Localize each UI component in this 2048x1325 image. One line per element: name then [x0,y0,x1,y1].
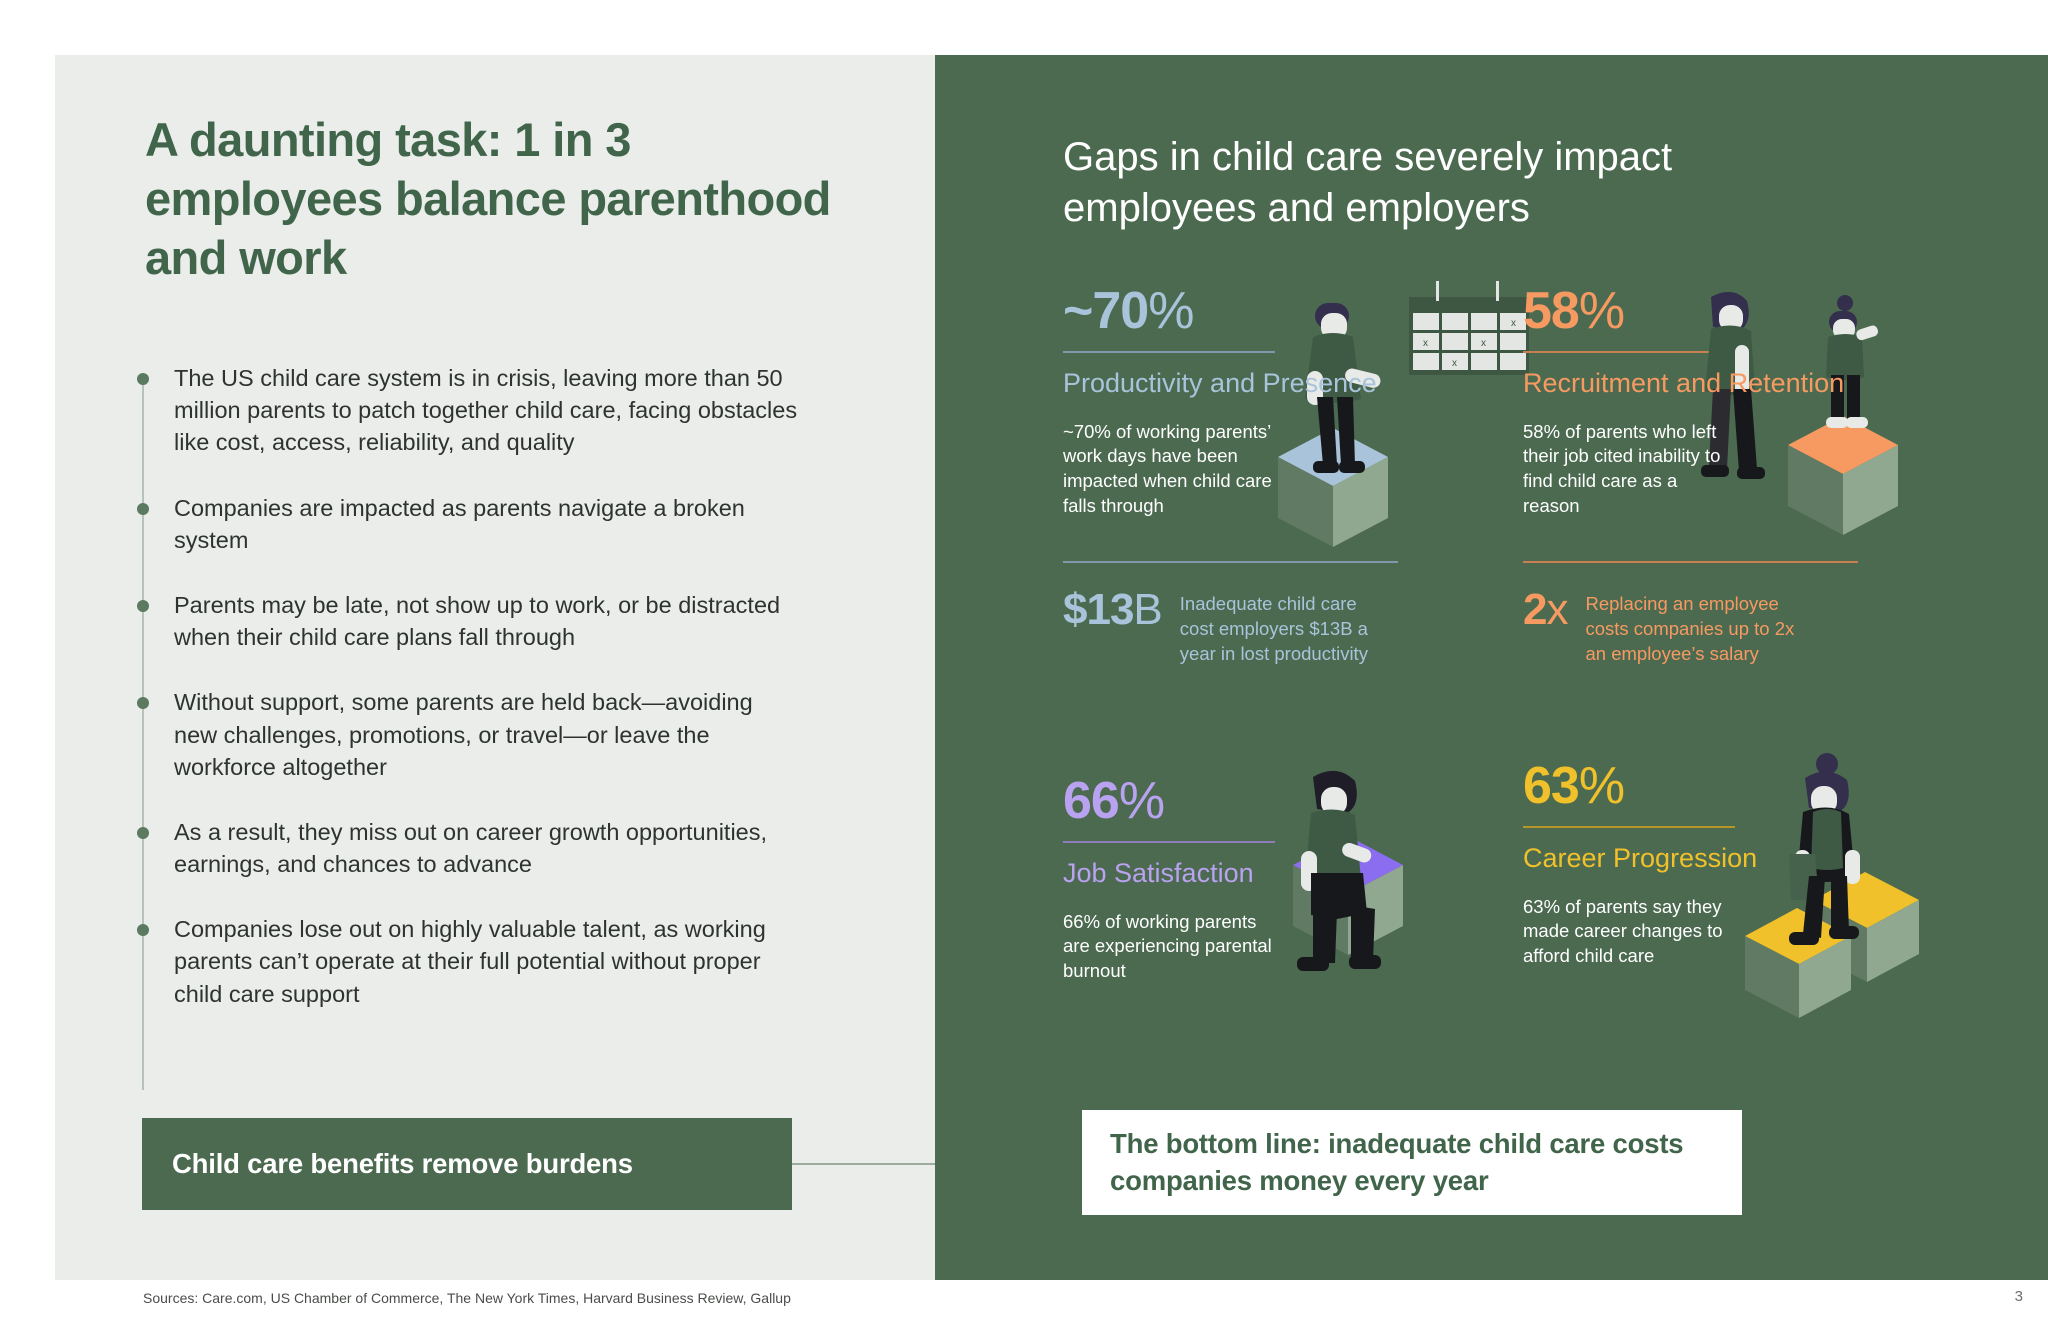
bottom-line-text: The bottom line: inadequate child care c… [1110,1126,1742,1199]
list-item-text: Companies are impacted as parents naviga… [174,492,802,556]
stat-value: ~70% [1063,285,1533,337]
stat-label: Productivity and Presence [1063,366,1533,400]
sources-note: Sources: Care.com, US Chamber of Commerc… [143,1290,791,1306]
list-item-text: The US child care system is in crisis, l… [174,362,802,459]
bullet-dot-icon [137,697,149,709]
stat-value: 66% [1063,775,1533,827]
stat-label: Career Progression [1523,841,1993,875]
bottom-line-banner: The bottom line: inadequate child care c… [1082,1110,1742,1215]
list-item: Companies are impacted as parents naviga… [142,492,802,556]
page-number: 3 [2015,1288,2023,1305]
list-item-text: As a result, they miss out on career gro… [174,816,802,880]
stat-value: 63% [1523,760,1993,812]
slide-root: A daunting task: 1 in 3 employees balanc… [0,0,2048,1325]
list-item: Companies lose out on highly valuable ta… [142,913,802,1010]
stat-card-career-progression: 63% Career Progression 63% of parents sa… [1523,760,1993,969]
bullet-dot-icon [137,373,149,385]
list-item: As a result, they miss out on career gro… [142,816,802,880]
stat-card-job-satisfaction: 66% Job Satisfaction 66% of working pare… [1063,775,1533,984]
stat-description: 66% of working parents are experiencing … [1063,910,1278,985]
stat-label: Job Satisfaction [1063,856,1533,890]
substat-replacement: 2x Replacing an employee costs companies… [1523,588,1795,666]
substat-value: 2x [1523,588,1567,632]
right-panel-title: Gaps in child care severely impact emplo… [1063,132,1823,234]
bullet-list: The US child care system is in crisis, l… [142,362,802,1010]
bullet-dot-icon [137,503,149,515]
substat-divider [1063,561,1398,563]
svg-text:x: x [1423,338,1428,349]
stat-description: ~70% of working parents’ work days have … [1063,420,1278,520]
list-item-text: Parents may be late, not show up to work… [174,589,802,653]
left-callout-text: Child care benefits remove burdens [172,1148,633,1180]
substat-divider [1523,561,1858,563]
list-item: Parents may be late, not show up to work… [142,589,802,653]
substat-text: Replacing an employee costs companies up… [1585,588,1795,666]
substat-value: $13B [1063,588,1162,632]
substat-text: Inadequate child care cost employers $13… [1180,588,1390,666]
stat-description: 58% of parents who left their job cited … [1523,420,1738,520]
bullet-dot-icon [137,600,149,612]
bullet-dot-icon [137,827,149,839]
list-item-text: Without support, some parents are held b… [174,686,802,783]
list-item: The US child care system is in crisis, l… [142,362,802,459]
list-item: Without support, some parents are held b… [142,686,802,783]
left-callout-banner: Child care benefits remove burdens [142,1118,792,1210]
svg-text:x: x [1481,338,1486,349]
stat-value: 58% [1523,285,1993,337]
substat-cost: $13B Inadequate child care cost employer… [1063,588,1390,666]
list-item-text: Companies lose out on highly valuable ta… [174,913,802,1010]
stat-label: Recruitment and Retention [1523,366,1993,400]
stat-card-productivity: x x x x [1063,285,1533,519]
stat-description: 63% of parents say they made career chan… [1523,895,1738,970]
stat-card-recruitment: 58% Recruitment and Retention 58% of par… [1523,285,1993,519]
page-title: A daunting task: 1 in 3 employees balanc… [145,110,865,288]
bullet-dot-icon [137,924,149,936]
right-panel [935,55,2048,1280]
